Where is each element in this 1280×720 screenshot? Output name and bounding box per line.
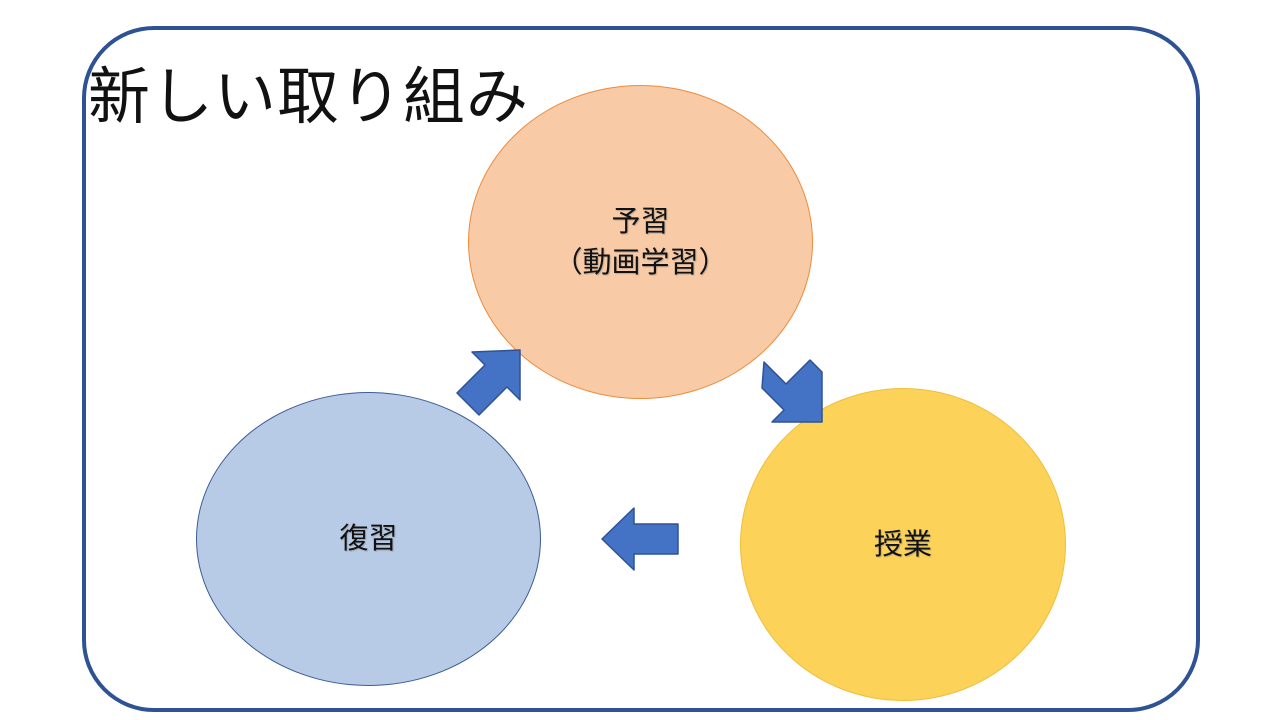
diagram-node-fukushu[interactable]: 復習 <box>196 392 541 686</box>
slide-canvas: 新しい取り組み 予習 （動画学習） 授業 復習 <box>0 0 1280 720</box>
arrow-up-right-icon <box>452 344 530 422</box>
diagram-node-fukushu-label: 復習 <box>339 518 397 559</box>
page-title: 新しい取り組み <box>88 66 529 128</box>
diagram-node-jugyo-label: 授業 <box>874 524 932 565</box>
diagram-node-jugyo[interactable]: 授業 <box>740 388 1066 701</box>
arrow-down-right-icon <box>758 358 830 430</box>
arrow-left-icon <box>600 505 680 573</box>
diagram-node-yoshu-label: 予習 （動画学習） <box>553 201 727 283</box>
